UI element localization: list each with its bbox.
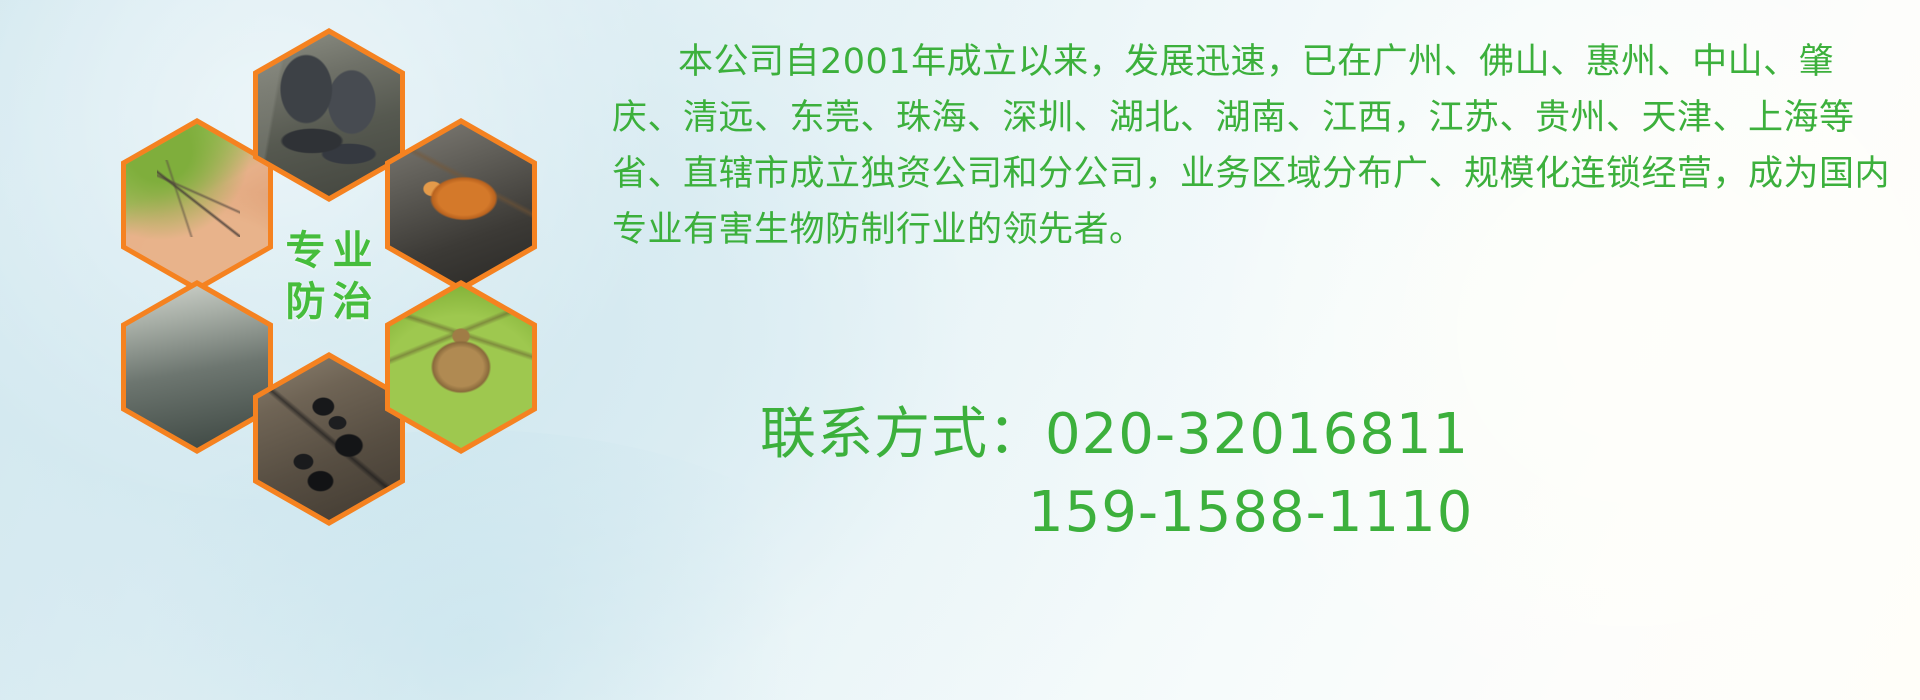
contact-block: 联系方式：020-32016811 159-1588-1110 bbox=[760, 396, 1880, 552]
hex-photo-rats bbox=[253, 28, 405, 202]
contact-line-primary: 联系方式：020-32016811 bbox=[760, 396, 1880, 474]
hex-photo-rats-inner bbox=[258, 34, 400, 196]
hex-photo-ants bbox=[253, 352, 405, 526]
contact-line-secondary: 159-1588-1110 bbox=[760, 474, 1880, 552]
hex-photo-stinkbug bbox=[385, 280, 537, 454]
intro-paragraph: 本公司自2001年成立以来，发展迅速，已在广州、佛山、惠州、中山、肇庆、清远、东… bbox=[612, 34, 1902, 258]
hex-photo-mosquito-inner bbox=[126, 124, 268, 286]
intro-copy-block: 本公司自2001年成立以来，发展迅速，已在广州、佛山、惠州、中山、肇庆、清远、东… bbox=[612, 34, 1902, 258]
hex-photo-cockroach-inner bbox=[390, 124, 532, 286]
hex-photo-stinkbug-inner bbox=[390, 286, 532, 448]
hex-photo-cockroach bbox=[385, 118, 537, 292]
cockroach-icon bbox=[390, 124, 532, 286]
mosquito-icon bbox=[126, 124, 268, 286]
hexagon-photo-cluster: 专业 防治 bbox=[85, 18, 585, 558]
hex-photo-ants-inner bbox=[258, 358, 400, 520]
hex-slogan-line-1: 专业 bbox=[279, 229, 380, 274]
hex-photo-flies-inner bbox=[126, 286, 268, 448]
hex-photo-flies bbox=[121, 280, 273, 454]
rats-icon bbox=[258, 34, 400, 196]
company-intro-banner: 专业 防治 本公司自2001年成立以来，发展迅速，已在广州、佛山、惠州、中山、肇… bbox=[0, 0, 1920, 700]
ants-icon bbox=[258, 358, 400, 520]
hex-slogan-line-2: 防治 bbox=[279, 280, 380, 325]
stinkbug-icon bbox=[390, 286, 532, 448]
flies-icon bbox=[126, 286, 268, 448]
hex-center-slogan: 专业 防治 bbox=[253, 190, 405, 364]
hex-photo-mosquito bbox=[121, 118, 273, 292]
